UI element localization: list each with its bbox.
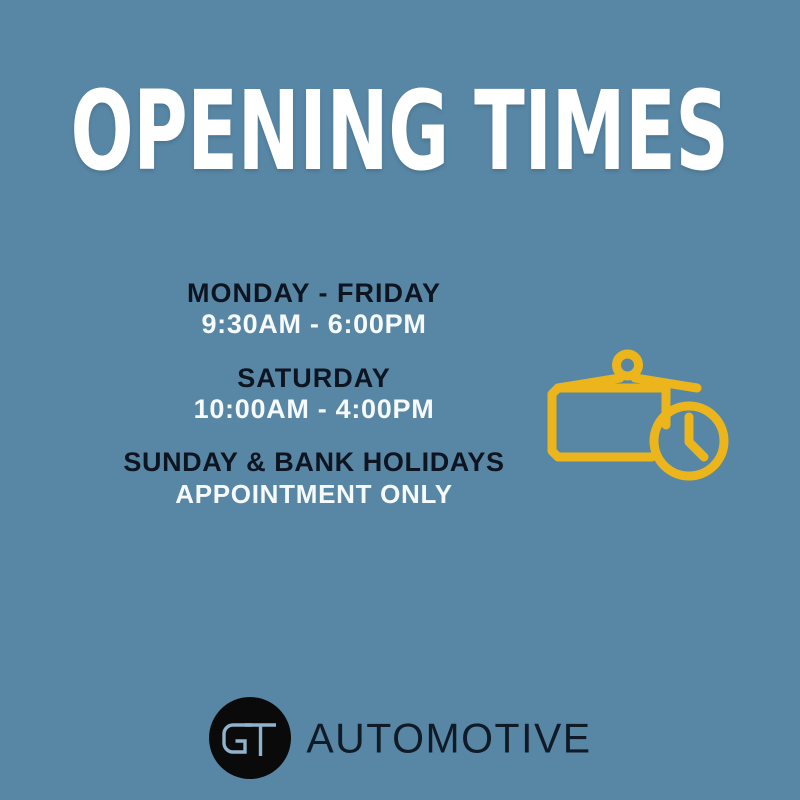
hours-group: MONDAY - FRIDAY 9:30AM - 6:00PM <box>14 278 614 341</box>
brand-logo: AUTOMOTIVE <box>0 696 800 780</box>
hours-days-label: SATURDAY <box>14 363 614 394</box>
opening-hours-block: MONDAY - FRIDAY 9:30AM - 6:00PM SATURDAY… <box>14 278 614 509</box>
hours-days-label: SUNDAY & BANK HOLIDAYS <box>14 447 614 478</box>
logo-wordmark: AUTOMOTIVE <box>306 717 591 759</box>
wallet-clock-icon <box>534 312 734 492</box>
logo-circle <box>209 697 291 779</box>
hours-time-label: APPOINTMENT ONLY <box>14 479 614 509</box>
hours-group: SUNDAY & BANK HOLIDAYS APPOINTMENT ONLY <box>14 447 614 508</box>
clock-hands <box>689 417 704 457</box>
hours-time-label: 10:00AM - 4:00PM <box>14 394 614 425</box>
hanging-ring <box>617 354 639 376</box>
page-title: OPENING TIMES <box>71 78 729 185</box>
gt-monogram-icon <box>208 696 292 780</box>
hours-days-label: MONDAY - FRIDAY <box>14 278 614 309</box>
hours-group: SATURDAY 10:00AM - 4:00PM <box>14 363 614 426</box>
hours-time-label: 9:30AM - 6:00PM <box>14 309 614 340</box>
poster-canvas: OPENING TIMES MONDAY - FRIDAY 9:30AM - 6… <box>0 0 800 800</box>
wallet-clock-icon-container <box>534 312 734 492</box>
sign-board <box>552 388 666 457</box>
title-container: OPENING TIMES <box>0 78 800 172</box>
